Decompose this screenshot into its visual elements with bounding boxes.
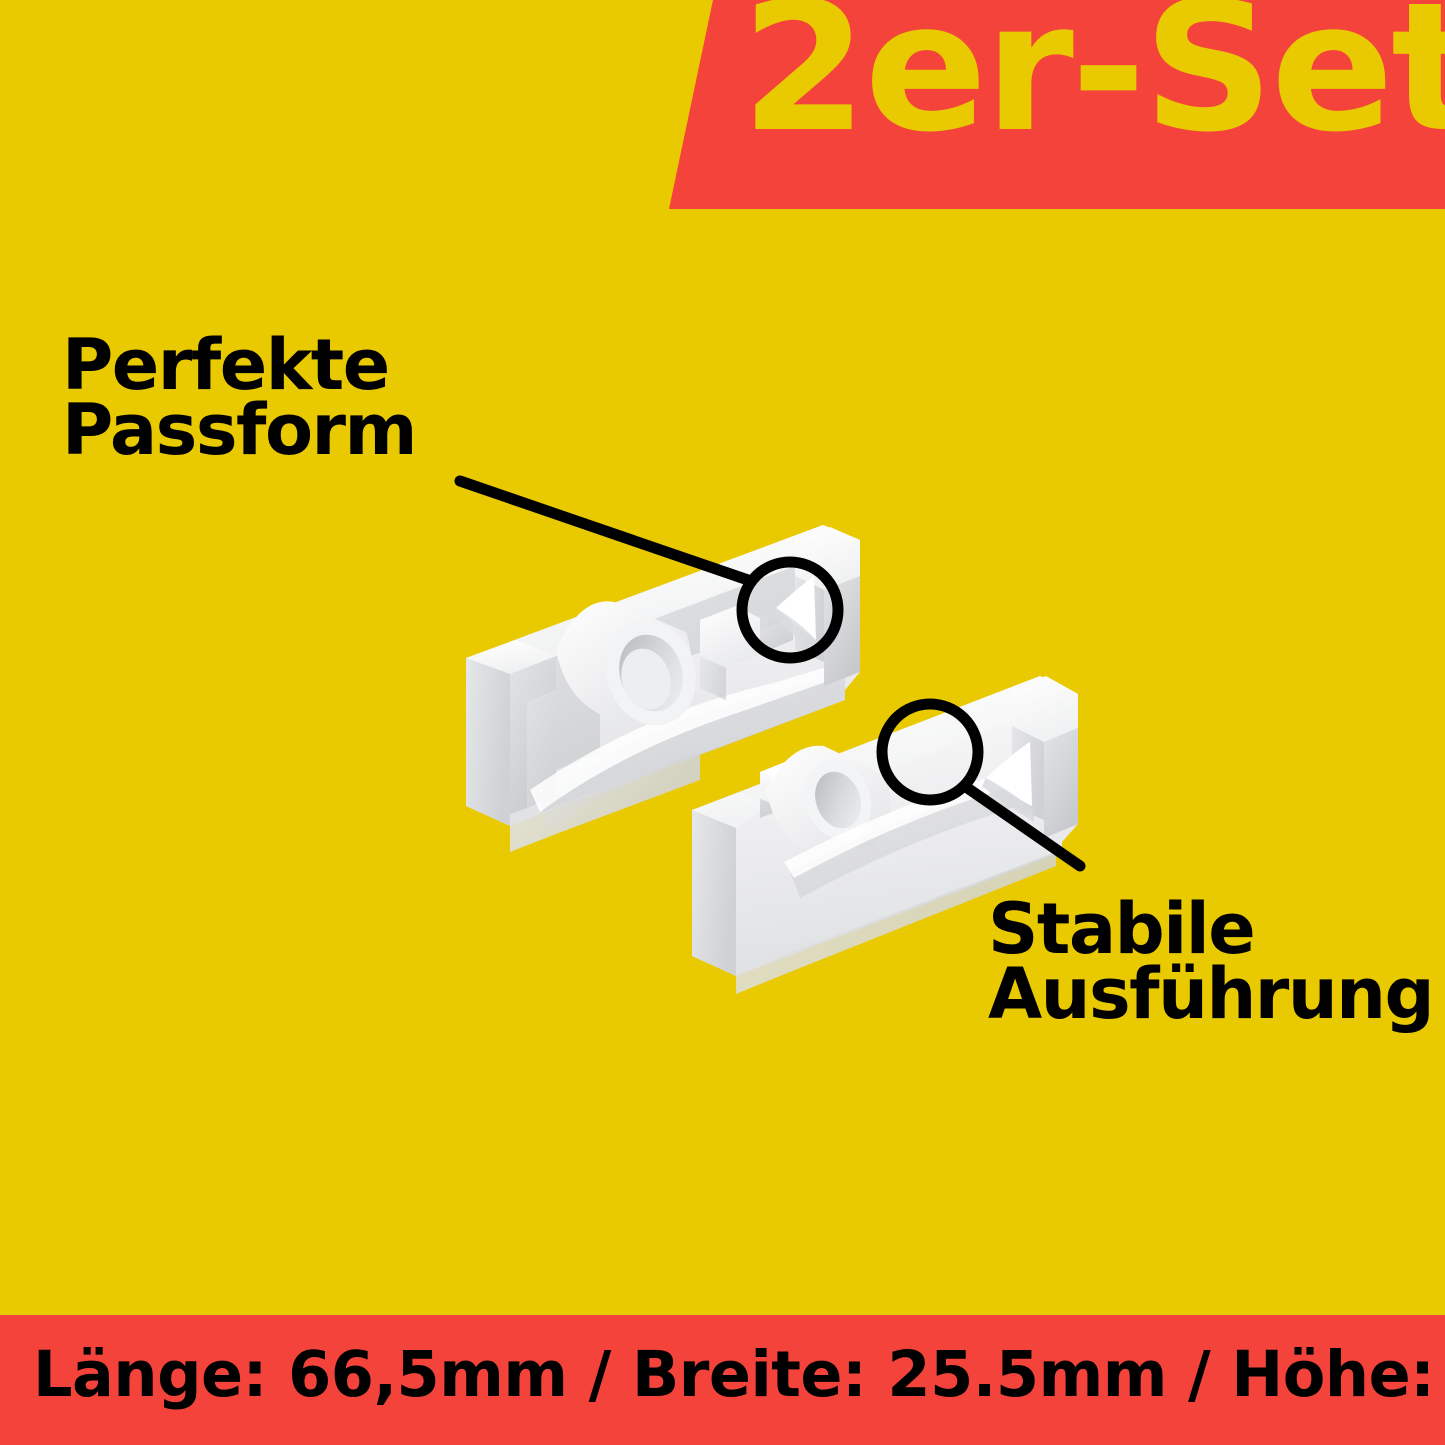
leader-line-perfekte-passform bbox=[460, 481, 748, 580]
callout-label-perfekte-passform: Perfekte Passform bbox=[62, 333, 416, 463]
dimensions-label: Länge: 66,5mm / Breite: 25.5mm / Höhe: 9… bbox=[33, 1343, 1445, 1406]
right-part-boss bbox=[766, 746, 890, 856]
callout-markers-layer bbox=[0, 0, 1445, 1445]
highlight-circle-perfekte-passform bbox=[742, 562, 838, 658]
product-illustration bbox=[0, 0, 1445, 1445]
callout-label-stabile-ausfuehrung: Stabile Ausführung bbox=[988, 897, 1433, 1027]
highlight-circle-stabile-ausfuehrung bbox=[882, 704, 978, 800]
product-image-canvas: 2er-Set Perfekte Passform Stabile Ausfüh… bbox=[0, 0, 1445, 1445]
set-quantity-label: 2er-Set bbox=[741, 0, 1445, 157]
left-part-boss bbox=[556, 601, 709, 737]
leader-line-stabile-ausfuehrung bbox=[966, 787, 1080, 866]
product-part-left bbox=[466, 525, 860, 852]
bottom-ribbon-banner: Länge: 66,5mm / Breite: 25.5mm / Höhe: 9… bbox=[0, 1315, 1445, 1445]
